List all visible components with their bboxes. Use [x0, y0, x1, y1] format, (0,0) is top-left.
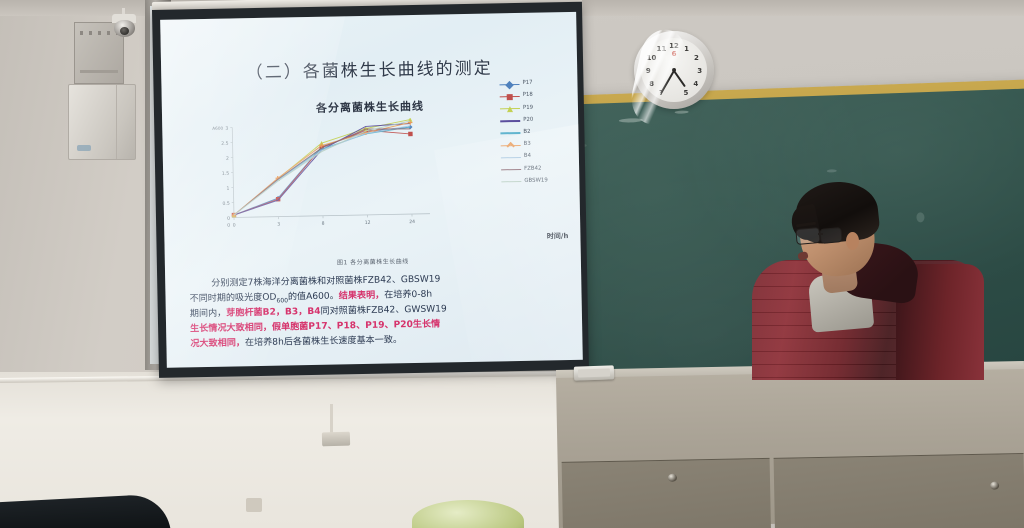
legend-label: P18 [523, 93, 533, 99]
clock-number: 2 [694, 54, 699, 62]
svg-text:0: 0 [227, 223, 230, 229]
growth-curve-chart: 00.511.522.53A60003812240 P17P18P19P20B2… [172, 115, 571, 263]
cabinet-door-left[interactable] [562, 458, 771, 528]
legend-swatch-icon [501, 141, 521, 148]
chart-svg: 00.511.522.53A60003812240 [210, 117, 452, 240]
svg-text:0: 0 [227, 216, 230, 222]
podium-body [556, 369, 1024, 528]
clock-number: 3 [697, 67, 702, 75]
slide-body-highlight: 假单胞菌P17、P18、P19、P20生长情 [272, 319, 440, 332]
chalk-smudge [675, 110, 689, 113]
projection-screen: （二）各菌株生长曲线的测定 各分离菌株生长曲线 00.511.522.53A60… [152, 2, 589, 378]
legend-label: P17 [522, 81, 532, 87]
svg-text:0.5: 0.5 [222, 201, 229, 207]
svg-text:1: 1 [226, 186, 229, 192]
slide-body-run: 期间内， [190, 309, 227, 320]
clock-number: 9 [646, 67, 651, 75]
legend-swatch-icon [501, 154, 521, 161]
slide-body-run: 不同时期的吸光度OD [189, 292, 276, 304]
wall-cabinet-seam [116, 85, 117, 159]
chart-legend: P17P18P19P20B2B3B4FZB42GBSW19 [499, 77, 573, 188]
legend-label: B3 [524, 142, 531, 148]
slide-body-highlight: 况大致相同， [190, 338, 245, 349]
presenter-remote[interactable] [574, 365, 614, 380]
svg-text:2: 2 [226, 156, 229, 162]
wall-conduit [330, 404, 333, 434]
series-B4 [232, 126, 412, 215]
legend-label: FZB42 [524, 166, 541, 172]
chalk-smudge [827, 169, 837, 172]
svg-text:12: 12 [365, 220, 371, 226]
projected-slide: （二）各菌株生长曲线的测定 各分离菌株生长曲线 00.511.522.53A60… [160, 12, 583, 368]
slide-body-highlight: 生长情况大致相同， [190, 323, 272, 335]
legend-swatch-icon [500, 129, 520, 136]
series-P20 [232, 123, 412, 215]
clock-number: 11 [657, 45, 667, 53]
cabinet-door-right[interactable] [774, 453, 1024, 528]
presenter [746, 178, 986, 378]
eyeglasses-lens-right [819, 227, 842, 244]
eyeglasses-lens-left [795, 227, 820, 245]
slide-body-text: 分别测定7株海洋分离菌株和对照菌株FZB42、GBSW19不同时期的吸光度OD6… [189, 270, 558, 351]
clock-hour-hand [673, 71, 686, 88]
electrical-box-strip [80, 70, 118, 73]
eyeglasses-bridge [818, 233, 823, 235]
clock-number: 1 [684, 45, 689, 53]
slide-body-highlight: 芽胞杆菌B2，B3，B4 [226, 307, 321, 319]
chalk-smudge [619, 118, 643, 123]
slide-content: （二）各菌株生长曲线的测定 各分离菌株生长曲线 00.511.522.53A60… [160, 12, 583, 368]
legend-label: P20 [523, 118, 533, 124]
clock-number: 10 [647, 54, 657, 62]
clock-number: 4 [693, 80, 698, 88]
slide-body-highlight: 结果表明， [339, 290, 385, 301]
clock-number: 12 [669, 42, 679, 50]
legend-swatch-icon [500, 93, 520, 100]
legend-swatch-icon [500, 105, 520, 112]
legend-label: B4 [524, 154, 531, 160]
svg-text:2.5: 2.5 [221, 141, 228, 147]
legend-swatch-icon [501, 166, 521, 173]
slide-body-run: 在培养8h后各菌株生长速度基本一致。 [245, 335, 402, 348]
wall-cabinet [68, 84, 136, 160]
legend-label: GBSW19 [524, 178, 548, 184]
series-P18 [230, 127, 414, 217]
slide-body-run: 600 [276, 297, 288, 304]
series-B2 [232, 127, 412, 215]
wall-marking [246, 498, 262, 512]
lecture-hall-photo: 12 1 2 3 4 5 6 7 8 9 10 11 （二）各菌株生长曲线的测定… [0, 0, 1024, 528]
wall-outlet [322, 432, 350, 447]
clock-minute-hand [660, 70, 675, 93]
ear [846, 232, 859, 250]
wall-cabinet-logo [77, 145, 91, 151]
clock-number: 5 [683, 89, 688, 97]
slide-body-run: 分别测定7株海洋分离菌株和对照菌株FZB42、GBSW19 [211, 275, 440, 289]
legend-swatch-icon [499, 81, 519, 88]
legend-label: B2 [523, 130, 530, 136]
series-GBSW19 [232, 121, 412, 215]
svg-text:0: 0 [233, 222, 236, 228]
series-B3 [230, 120, 414, 217]
wall-clock: 12 1 2 3 4 5 6 7 8 9 10 11 [634, 31, 714, 109]
svg-text:24: 24 [409, 219, 415, 225]
camera-lens-icon [120, 27, 129, 35]
svg-text:1.5: 1.5 [222, 171, 229, 177]
svg-text:3: 3 [225, 126, 228, 132]
clock-face: 12 1 2 3 4 5 6 7 8 9 10 11 [641, 38, 707, 102]
legend-label: P19 [523, 105, 533, 111]
slide-body-run: 的值A600。 [288, 291, 339, 302]
clock-number-six: 6 [672, 50, 677, 58]
clock-number: 8 [649, 80, 654, 88]
legend-swatch-icon [501, 178, 521, 185]
series-FZB42 [232, 128, 412, 215]
series-P17 [230, 125, 414, 217]
slide-body-run: 同对照菌株FZB42、GWSW19 [320, 305, 446, 317]
svg-text:8: 8 [322, 221, 325, 227]
slide-body-run: 在培养0-8h [384, 289, 432, 300]
legend-item-gbsw19: GBSW19 [501, 174, 573, 188]
svg-text:3: 3 [277, 222, 280, 228]
clock-center-pin [672, 68, 676, 72]
svg-text:A600: A600 [212, 126, 223, 131]
x-axis-label: 时间/h [547, 231, 569, 241]
legend-swatch-icon [500, 117, 520, 124]
